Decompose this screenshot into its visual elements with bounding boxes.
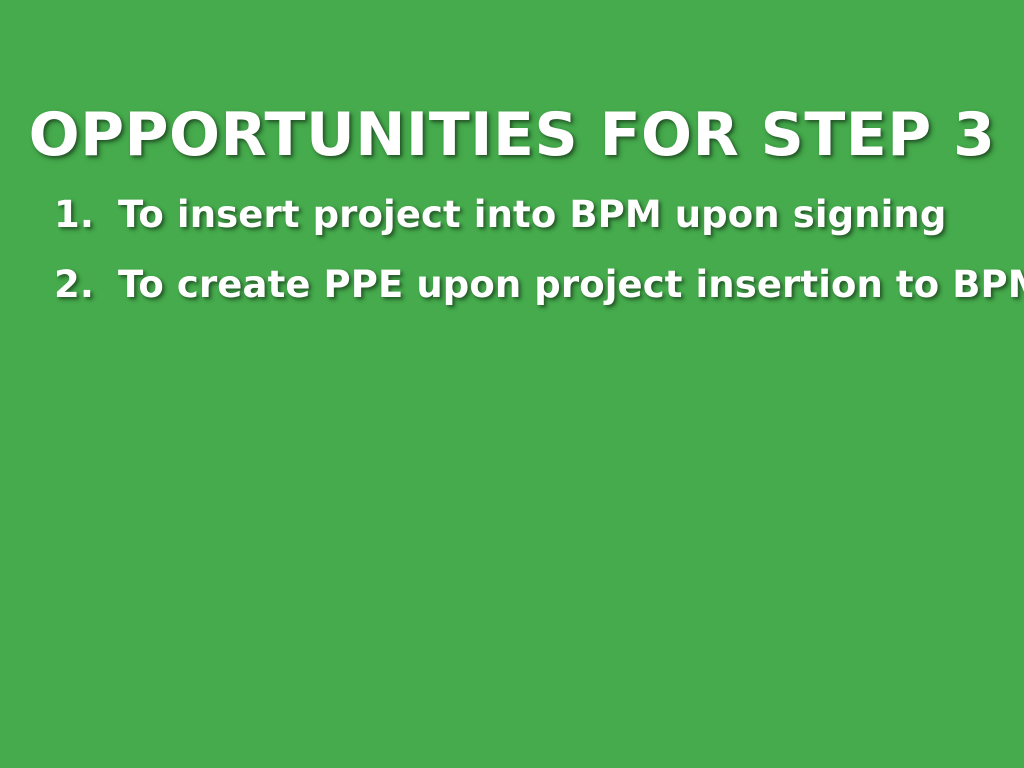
page-title: OPPORTUNITIES FOR STEP 3 [0, 104, 1024, 168]
list-item: 2. To create PPE upon project insertion … [54, 266, 1014, 303]
list-item-label: To create PPE upon project insertion to … [118, 266, 1024, 303]
list-item-marker: 1. [54, 196, 118, 233]
presentation-slide: OPPORTUNITIES FOR STEP 3 1. To insert pr… [0, 0, 1024, 768]
list-item-label: To insert project into BPM upon signing [118, 196, 946, 233]
list-item: 1. To insert project into BPM upon signi… [54, 196, 1014, 233]
list-item-marker: 2. [54, 266, 118, 303]
numbered-list: 1. To insert project into BPM upon signi… [54, 196, 1014, 303]
